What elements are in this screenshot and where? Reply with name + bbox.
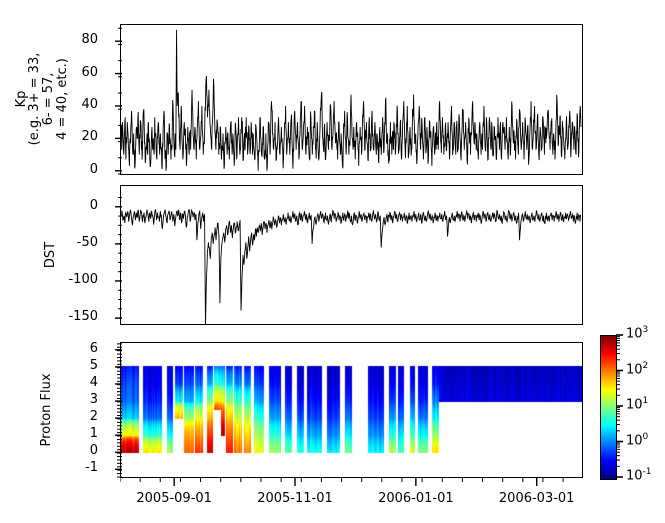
flux-ytick-label: -1 bbox=[62, 460, 98, 475]
x-tick-label: 2005-11-01 bbox=[240, 491, 350, 506]
kp-label-main: Kp bbox=[15, 53, 29, 146]
colorbar-tick-label: 102 bbox=[626, 361, 648, 377]
dst-axis-ticks bbox=[100, 185, 122, 326]
colorbar-ticks bbox=[616, 334, 626, 480]
kp-ytick-label: 40 bbox=[60, 97, 98, 112]
colorbar-tick-label: 10-1 bbox=[626, 467, 652, 483]
colorbar-tick-label: 101 bbox=[626, 396, 648, 412]
dst-series-plot bbox=[121, 186, 582, 324]
kp-ytick-label: 80 bbox=[60, 32, 98, 47]
dst-ytick-label: -100 bbox=[50, 272, 98, 287]
kp-label-note1: (e.g. 3+ = 33, bbox=[28, 53, 42, 146]
x-tick-label: 2005-09-01 bbox=[119, 491, 229, 506]
x-axis-ticks bbox=[120, 478, 584, 488]
flux-ytick-label: 4 bbox=[62, 375, 98, 390]
figure-root: Kp (e.g. 3+ = 33, 6- = 57, 4 = 40, etc.)… bbox=[0, 0, 665, 523]
flux-ytick-label: 2 bbox=[62, 409, 98, 424]
flux-ytick-label: 3 bbox=[62, 392, 98, 407]
flux-axis-ticks bbox=[100, 342, 122, 479]
kp-ytick-label: 0 bbox=[60, 162, 98, 177]
colorbar-tick-label: 100 bbox=[626, 432, 648, 448]
flux-ytick-label: 6 bbox=[62, 341, 98, 356]
kp-series-plot bbox=[121, 25, 582, 174]
kp-ytick-label: 20 bbox=[60, 129, 98, 144]
x-tick-label: 2006-03-01 bbox=[482, 491, 592, 506]
x-tick-label: 2006-01-01 bbox=[361, 491, 471, 506]
kp-axis-ticks bbox=[100, 24, 122, 176]
flux-ytick-label: 5 bbox=[62, 358, 98, 373]
flux-label-text: Proton Flux bbox=[39, 373, 54, 446]
kp-ytick-label: 60 bbox=[60, 65, 98, 80]
flux-ytick-label: 1 bbox=[62, 426, 98, 441]
flux-ytick-label: 0 bbox=[62, 443, 98, 458]
dst-ytick-label: -150 bbox=[50, 309, 98, 324]
proton-flux-heatmap bbox=[121, 343, 582, 477]
colorbar-tick-label: 103 bbox=[626, 325, 648, 341]
dst-ytick-label: -50 bbox=[50, 235, 98, 250]
kp-label-note2: 6- = 57, bbox=[42, 53, 56, 146]
dst-ytick-label: 0 bbox=[50, 198, 98, 213]
colorbar-gradient bbox=[600, 335, 617, 480]
